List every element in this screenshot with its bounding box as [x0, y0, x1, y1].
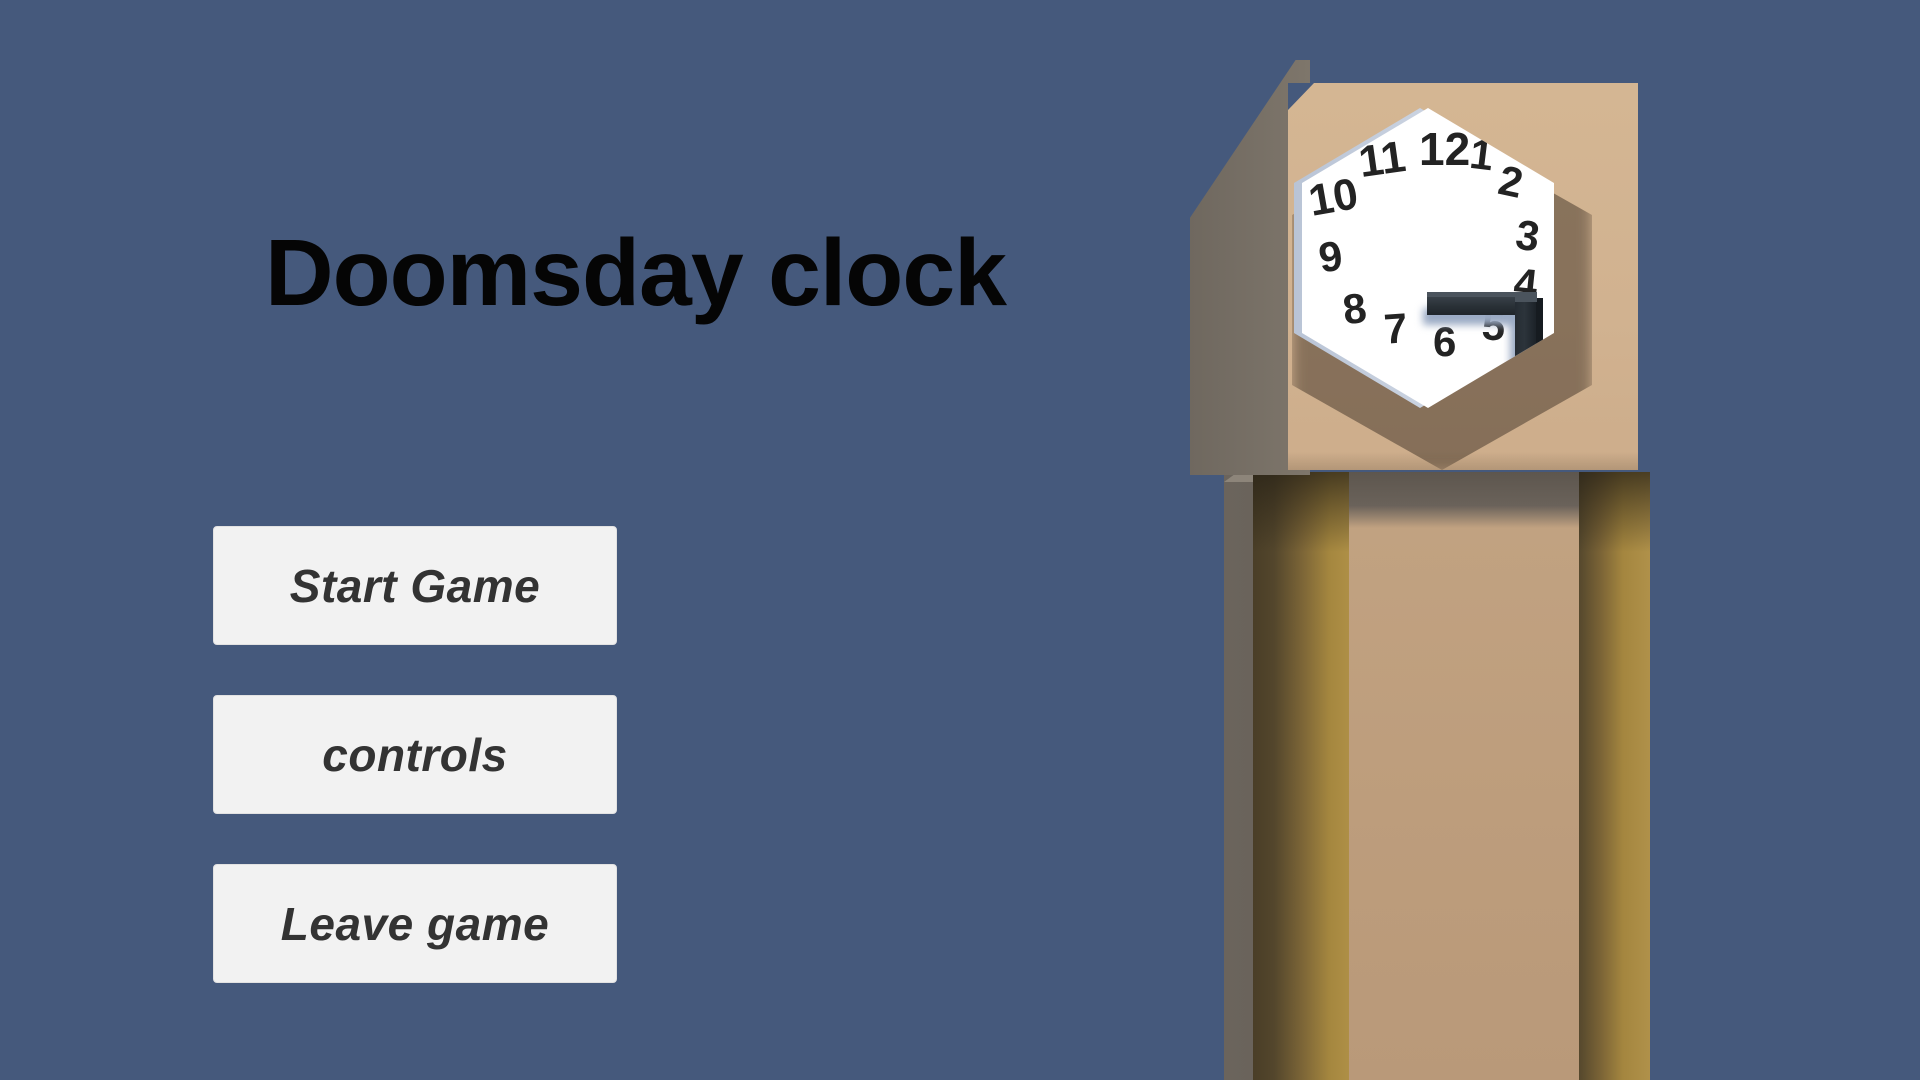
clock-body-right-column: [1579, 472, 1650, 1080]
clock-numeral-9: 9: [1316, 235, 1345, 280]
grandfather-clock-illustration: 111098765432112: [1190, 60, 1660, 1080]
clock-hands-pivot: [1515, 292, 1537, 302]
clock-body-center-panel: [1349, 472, 1579, 1080]
controls-button[interactable]: controls: [213, 695, 617, 814]
clock-numeral-10: 10: [1306, 172, 1362, 224]
clock-numeral-3: 3: [1513, 214, 1542, 259]
clock-numeral-8: 8: [1341, 287, 1369, 332]
main-menu: Start Game controls Leave game: [213, 526, 617, 983]
clock-body-left-side-face: [1224, 470, 1253, 1080]
start-game-button[interactable]: Start Game: [213, 526, 617, 645]
leave-game-button-label: Leave game: [281, 897, 549, 951]
leave-game-button[interactable]: Leave game: [213, 864, 617, 983]
clock-numeral-6: 6: [1433, 321, 1456, 363]
clock-head: 111098765432112: [1190, 60, 1650, 475]
clock-body-right-column-shadow: [1579, 472, 1650, 552]
controls-button-label: controls: [322, 728, 507, 782]
start-game-button-label: Start Game: [290, 559, 540, 613]
clock-body-left-column: [1253, 472, 1349, 1080]
page-title: Doomsday clock: [265, 226, 1006, 321]
clock-body-overhang-shadow: [1349, 472, 1579, 528]
clock-numeral-2: 2: [1495, 159, 1527, 205]
clock-body-left-column-shadow: [1253, 472, 1349, 552]
clock-numeral-12: 12: [1419, 126, 1470, 172]
clock-body: [1224, 460, 1650, 1080]
game-main-menu-screen: Doomsday clock Start Game controls Leave…: [0, 0, 1920, 1080]
clock-numeral-7: 7: [1383, 307, 1409, 351]
